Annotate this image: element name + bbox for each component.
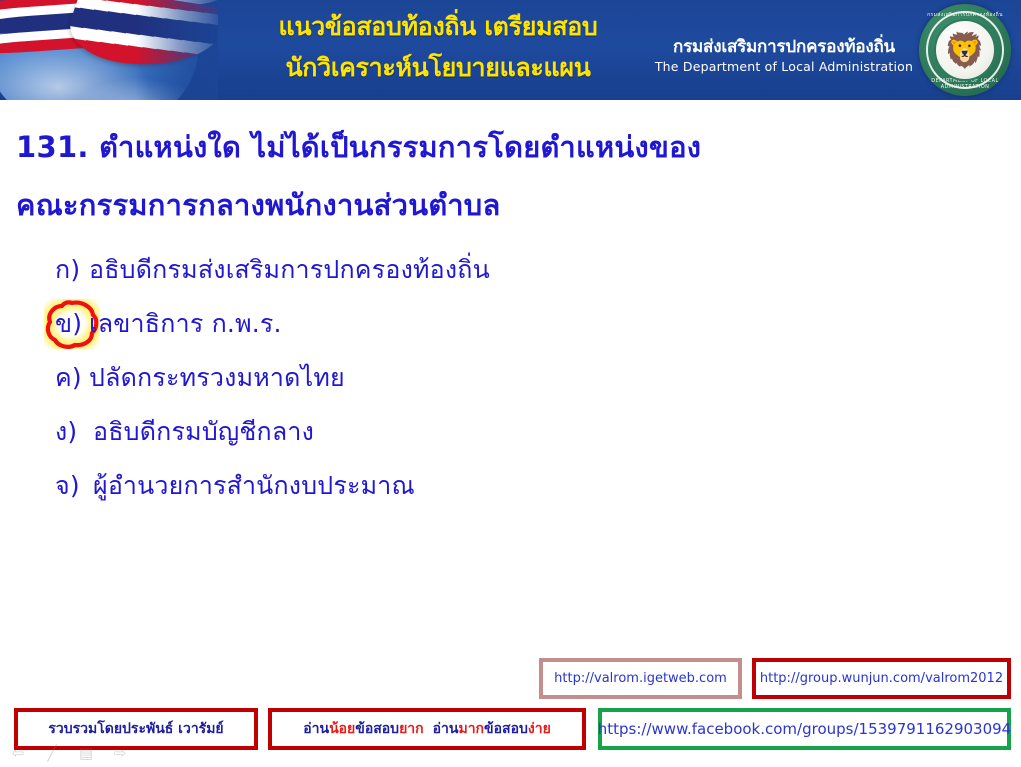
choice-key: ก) (55, 243, 89, 297)
choice-label: อธิบดีกรมบัญชีกลาง (93, 405, 314, 459)
motto-part-4: ยาก (399, 718, 424, 740)
motto-box: อ่านน้อยข้อสอบยากอ่านมากข้อสอบง่าย (268, 708, 586, 750)
question-line-2: คณะกรรมการกลางพนักงานส่วนตำบล (16, 176, 1001, 234)
choice-key: ค) (55, 351, 89, 405)
facebook-group-link[interactable]: https://www.facebook.com/groups/15397911… (598, 720, 1011, 738)
banner-title-line1: แนวข้อสอบท้องถิ่น เตรียมสอบ (232, 6, 644, 47)
facebook-group-box[interactable]: https://www.facebook.com/groups/15397911… (598, 708, 1011, 750)
answer-choice-ka[interactable]: ก) อธิบดีกรมส่งเสริมการปกครองท้องถิ่น (55, 243, 955, 297)
choice-key: จ) (55, 459, 93, 513)
motto-part-8: ง่าย (528, 718, 551, 740)
wunjun-group-box[interactable]: http://group.wunjun.com/valrom2012 (752, 658, 1011, 699)
choice-label: เลขาธิการ ก.พ.ร. (89, 297, 282, 351)
banner-title-line2: นักวิเคราะห์นโยบายและแผน (232, 47, 644, 88)
valrom-website-box[interactable]: http://valrom.igetweb.com (539, 658, 742, 699)
slide-canvas: แนวข้อสอบท้องถิ่น เตรียมสอบ นักวิเคราะห์… (0, 0, 1021, 767)
motto-part-5: อ่าน (433, 718, 459, 740)
answer-choice-cho[interactable]: จ) ผู้อำนวยการสำนักงบประมาณ (55, 459, 955, 513)
seal-text-top: กรมส่งเสริมการปกครองท้องถิ่น (919, 11, 1011, 19)
motto-part-1: อ่าน (303, 718, 329, 740)
notes-icon[interactable]: ▤ (74, 744, 98, 762)
answer-choice-kho[interactable]: ข) เลขาธิการ ก.พ.ร. (55, 297, 955, 351)
motto-part-6: มาก (458, 718, 484, 740)
choice-label: ปลัดกระทรวงมหาดไทย (89, 351, 345, 405)
question-line-1: 131. ตำแหน่งใด ไม่ได้เป็นกรรมการโดยตำแหน… (16, 130, 701, 164)
answer-choice-kho-khwai[interactable]: ค) ปลัดกระทรวงมหาดไทย (55, 351, 955, 405)
valrom-website-link[interactable]: http://valrom.igetweb.com (554, 671, 727, 686)
question-text: 131. ตำแหน่งใด ไม่ได้เป็นกรรมการโดยตำแหน… (16, 118, 1001, 234)
thai-flag-artwork (0, 0, 218, 100)
department-name-block: กรมส่งเสริมการปกครองท้องถิ่น The Departm… (645, 36, 923, 75)
banner-title: แนวข้อสอบท้องถิ่น เตรียมสอบ นักวิเคราะห์… (232, 6, 644, 88)
choice-label: ผู้อำนวยการสำนักงบประมาณ (93, 459, 415, 513)
presentation-nav-widgets[interactable]: ⇦ ╱ ▤ ⇨ (6, 742, 136, 764)
department-name-english: The Department of Local Administration (645, 58, 923, 75)
lion-emblem-icon: 🦁 (944, 34, 986, 68)
choice-key: ง) (55, 405, 93, 459)
answer-choice-ngo[interactable]: ง) อธิบดีกรมบัญชีกลาง (55, 405, 955, 459)
author-credit-label: รวบรวมโดยประพันธ์ เวารัมย์ (48, 718, 223, 740)
wunjun-group-link[interactable]: http://group.wunjun.com/valrom2012 (760, 671, 1003, 686)
department-seal-icon: กรมส่งเสริมการปกครองท้องถิ่น DEPARTMENT … (919, 4, 1011, 96)
pen-icon[interactable]: ╱ (40, 744, 64, 762)
department-name-thai: กรมส่งเสริมการปกครองท้องถิ่น (645, 36, 923, 58)
header-banner: แนวข้อสอบท้องถิ่น เตรียมสอบ นักวิเคราะห์… (0, 0, 1021, 100)
motto-part-2: น้อย (329, 718, 355, 740)
back-arrow-icon[interactable]: ⇦ (6, 744, 30, 762)
forward-arrow-icon[interactable]: ⇨ (108, 744, 132, 762)
choice-key: ข) (55, 297, 89, 351)
flag-fade-overlay (136, 0, 218, 100)
choice-label: อธิบดีกรมส่งเสริมการปกครองท้องถิ่น (89, 243, 490, 297)
motto-part-7: ข้อสอบ (484, 718, 528, 740)
motto-part-3: ข้อสอบ (355, 718, 399, 740)
seal-inner-disc: 🦁 (934, 19, 996, 81)
answer-choice-list: ก) อธิบดีกรมส่งเสริมการปกครองท้องถิ่น ข)… (55, 243, 955, 513)
